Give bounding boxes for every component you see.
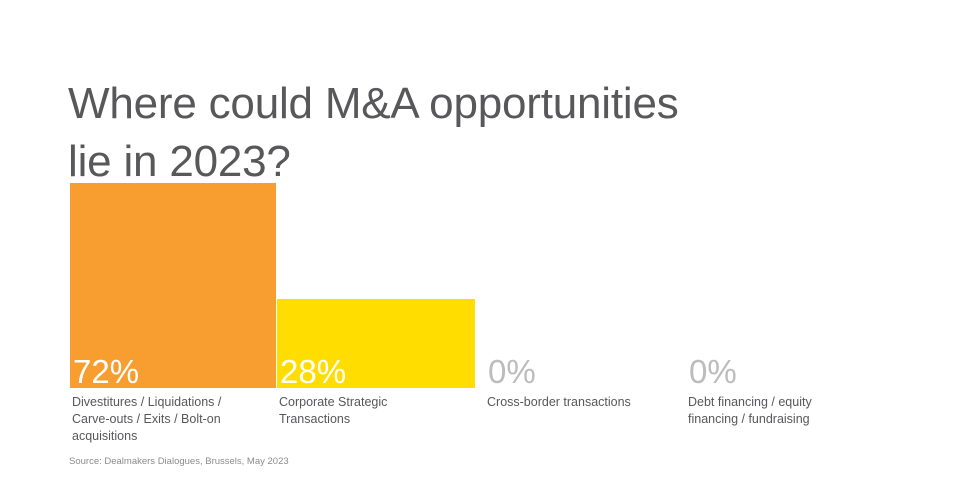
chart-canvas: Where could M&A opportunities lie in 202… [0,0,959,501]
bar-column-3: 0% Cross-border transactions [485,0,683,501]
source-note: Source: Dealmakers Dialogues, Brussels, … [69,455,289,468]
bar-value-3: 0% [488,355,536,388]
bar-label-3: Cross-border transactions [487,394,631,411]
bar-value-2: 28% [280,355,346,388]
bar-chart-plot-area: 72% Divestitures / Liquidations / Carve-… [0,0,959,501]
bar-column-1: 72% Divestitures / Liquidations / Carve-… [70,0,276,501]
bar-label-2: Corporate Strategic Transactions [279,394,387,428]
bar-label-4: Debt financing / equity financing / fund… [688,394,812,428]
bar-column-4: 0% Debt financing / equity financing / f… [686,0,896,501]
bar-value-4: 0% [689,355,737,388]
bar-value-1: 72% [73,355,139,388]
bar-label-1: Divestitures / Liquidations / Carve-outs… [72,394,221,445]
bar-column-2: 28% Corporate Strategic Transactions [277,0,475,501]
